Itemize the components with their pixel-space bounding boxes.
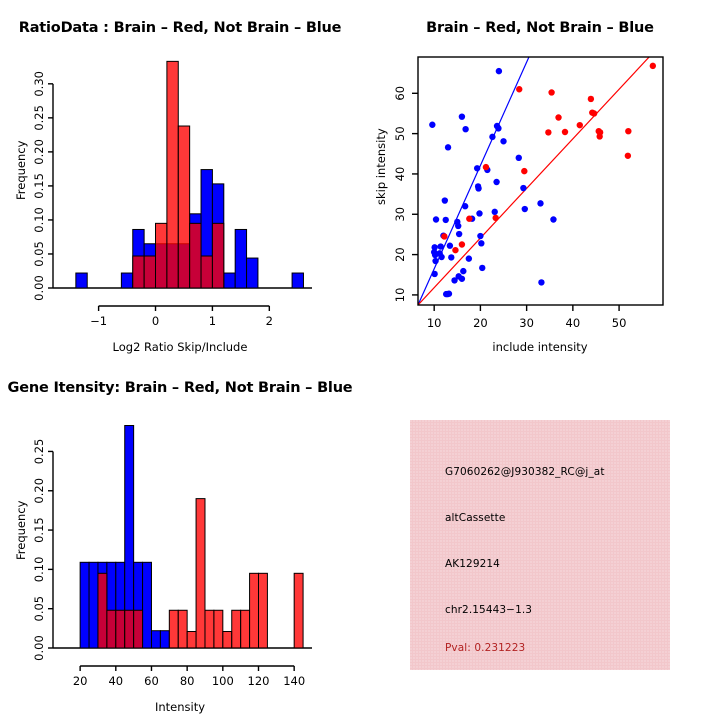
ratio-hist-bar-red	[190, 223, 201, 288]
gene-hist-bar-red	[258, 573, 267, 648]
ratio-hist-bar-blue	[121, 273, 132, 288]
scatter-point-brain	[650, 63, 656, 69]
scatter-point-not-brain	[492, 209, 498, 215]
gene-hist-x-ticklabel: 140	[283, 674, 305, 688]
scatter-point-not-brain	[431, 271, 437, 277]
ratio-hist-y-ticklabel: 0.05	[32, 241, 46, 267]
scatter-point-not-brain	[442, 197, 448, 203]
scatter-point-not-brain	[520, 185, 526, 191]
accession-text: AK129214	[445, 558, 500, 570]
scatter-point-brain	[577, 122, 583, 128]
gene-hist-bar-blue	[160, 631, 169, 648]
scatter-plot: 1020304050102030405060	[360, 0, 720, 360]
scatter-frame-box	[418, 57, 663, 305]
gene-hist-x-ticklabel: 20	[73, 674, 88, 688]
scatter-fit-line-not-brain-fit	[418, 57, 529, 305]
gene-hist-bar-red	[232, 610, 241, 648]
scatter-y-ticklabel: 60	[393, 86, 407, 101]
gene-hist-x-ticklabel: 80	[180, 674, 195, 688]
figure-canvas: RatioData : Brain – Red, Not Brain – Blu…	[0, 0, 720, 720]
ratio-hist-y-ticklabel: 0.20	[32, 139, 46, 165]
scatter-point-not-brain	[478, 240, 484, 246]
scatter-point-not-brain	[445, 144, 451, 150]
gene-hist-bar-red	[205, 610, 214, 648]
scatter-point-not-brain	[479, 265, 485, 271]
ratio-hist-bar-red	[167, 61, 178, 288]
ratio-hist-x-ticklabel: 2	[266, 314, 273, 328]
gene-hist-bar-red	[294, 573, 303, 648]
scatter-point-not-brain	[522, 206, 528, 212]
scatter-point-not-brain	[475, 185, 481, 191]
scatter-point-brain	[625, 153, 631, 159]
scatter-point-brain	[625, 128, 631, 134]
panel-gene-histogram: Gene Itensity: Brain – Red, Not Brain – …	[0, 360, 360, 720]
panel-scatter: Brain – Red, Not Brain – Blue include in…	[360, 0, 720, 360]
gene-hist-bar-red	[241, 610, 250, 648]
ratio-hist-x-ticklabel: −1	[90, 314, 107, 328]
scatter-y-ticklabel: 50	[393, 126, 407, 141]
gene-hist-bar-red	[116, 610, 125, 648]
gene-hist-y-ticklabel: 0.15	[32, 517, 46, 543]
scatter-point-not-brain	[437, 243, 443, 249]
gene-hist-bar-red	[223, 631, 232, 648]
locus-text: chr2.15443−1.3	[445, 604, 532, 616]
scatter-point-brain	[521, 168, 527, 174]
scatter-point-brain	[492, 215, 498, 221]
scatter-point-not-brain	[462, 126, 468, 132]
ratio-hist-bar-red	[133, 256, 144, 288]
gene-hist-bar-red	[187, 631, 196, 648]
ratio-hist-x-ticklabel: 1	[209, 314, 216, 328]
scatter-x-ticklabel: 10	[427, 316, 442, 330]
ratio-hist-y-ticklabel: 0.30	[32, 71, 46, 97]
scatter-point-brain	[597, 129, 603, 135]
ratio-hist-bar-red	[144, 256, 155, 288]
scatter-point-not-brain	[443, 217, 449, 223]
scatter-point-not-brain	[429, 122, 435, 128]
gene-hist-x-ticklabel: 120	[248, 674, 270, 688]
ratio-hist-y-ticklabel: 0.00	[32, 275, 46, 301]
gene-hist-plot: 0.000.050.100.150.200.252040608010012014…	[0, 360, 360, 720]
ratio-hist-bar-red	[156, 223, 167, 288]
ratio-hist-bar-blue	[76, 273, 87, 288]
scatter-point-brain	[545, 129, 551, 135]
scatter-fit-line-brain-fit	[418, 57, 649, 305]
gene-hist-bar-red	[107, 610, 116, 648]
scatter-point-not-brain	[466, 255, 472, 261]
gene-hist-y-ticklabel: 0.05	[32, 596, 46, 622]
gene-hist-bar-red	[250, 573, 259, 648]
ratio-hist-y-ticklabel: 0.25	[32, 105, 46, 131]
ratio-hist-bar-blue	[247, 258, 258, 288]
ratio-hist-y-ticklabel: 0.15	[32, 173, 46, 199]
ratio-hist-bar-red	[201, 256, 212, 288]
probe-id-text: G7060262@J930382_RC@j_at	[445, 466, 605, 478]
scatter-point-brain	[588, 96, 594, 102]
scatter-point-brain	[452, 247, 458, 253]
scatter-point-not-brain	[446, 291, 452, 297]
ratio-hist-bar-blue	[292, 273, 303, 288]
scatter-point-brain	[483, 164, 489, 170]
gene-hist-bar-red	[125, 610, 134, 648]
scatter-point-not-brain	[495, 125, 501, 131]
gene-hist-x-ticklabel: 100	[212, 674, 234, 688]
scatter-x-ticklabel: 50	[612, 316, 627, 330]
scatter-point-not-brain	[448, 254, 454, 260]
scatter-point-not-brain	[456, 231, 462, 237]
scatter-point-not-brain	[476, 210, 482, 216]
gene-hist-bar-blue	[151, 631, 160, 648]
scatter-y-ticklabel: 40	[393, 167, 407, 182]
scatter-point-not-brain	[460, 268, 466, 274]
scatter-point-not-brain	[459, 113, 465, 119]
gene-hist-bar-blue	[143, 562, 152, 648]
gene-hist-bar-red	[169, 610, 178, 648]
gene-hist-y-ticklabel: 0.20	[32, 478, 46, 504]
scatter-point-not-brain	[500, 138, 506, 144]
scatter-y-ticklabel: 20	[393, 247, 407, 262]
gene-hist-bar-red	[98, 573, 107, 648]
gene-hist-x-ticklabel: 60	[144, 674, 159, 688]
gene-hist-bar-red	[214, 610, 223, 648]
scatter-point-brain	[548, 89, 554, 95]
gene-hist-bar-red	[178, 610, 187, 648]
gene-hist-bar-blue	[80, 562, 89, 648]
scatter-point-not-brain	[455, 223, 461, 229]
scatter-point-not-brain	[538, 279, 544, 285]
ratio-hist-x-ticklabel: 0	[152, 314, 159, 328]
ratio-hist-bar-blue	[224, 273, 235, 288]
scatter-point-not-brain	[462, 203, 468, 209]
scatter-point-brain	[459, 241, 465, 247]
ratio-hist-bar-blue	[235, 229, 246, 288]
gene-hist-bar-blue	[89, 562, 98, 648]
ratio-hist-bar-red	[178, 126, 189, 288]
pval-text: Pval: 0.231223	[445, 642, 525, 654]
gene-hist-x-ticklabel: 40	[108, 674, 123, 688]
scatter-x-ticklabel: 20	[473, 316, 488, 330]
event-type-text: altCassette	[445, 512, 505, 524]
scatter-point-not-brain	[537, 200, 543, 206]
gene-hist-y-ticklabel: 0.25	[32, 439, 46, 465]
scatter-point-brain	[441, 233, 447, 239]
scatter-point-not-brain	[459, 276, 465, 282]
scatter-point-not-brain	[432, 258, 438, 264]
gene-hist-bar-red	[134, 610, 143, 648]
panel-gene-info: G7060262@J930382_RC@j_at altCassette AK1…	[360, 360, 720, 720]
gene-hist-y-ticklabel: 0.10	[32, 557, 46, 583]
scatter-point-brain	[516, 86, 522, 92]
scatter-data-group	[418, 57, 656, 305]
scatter-point-not-brain	[496, 68, 502, 74]
ratio-hist-y-ticklabel: 0.10	[32, 207, 46, 233]
scatter-point-brain	[562, 129, 568, 135]
scatter-point-not-brain	[438, 254, 444, 260]
scatter-y-ticklabel: 30	[393, 207, 407, 222]
scatter-point-not-brain	[489, 134, 495, 140]
scatter-point-not-brain	[447, 243, 453, 249]
gene-hist-bar-red	[196, 499, 205, 648]
scatter-point-brain	[555, 114, 561, 120]
panel-ratio-histogram: RatioData : Brain – Red, Not Brain – Blu…	[0, 0, 360, 360]
ratio-hist-bar-red	[212, 223, 223, 288]
scatter-point-not-brain	[477, 233, 483, 239]
gene-info-box: G7060262@J930382_RC@j_at altCassette AK1…	[410, 420, 670, 670]
scatter-point-not-brain	[493, 179, 499, 185]
scatter-point-not-brain	[516, 155, 522, 161]
scatter-point-not-brain	[550, 216, 556, 222]
scatter-point-brain	[466, 216, 472, 222]
gene-hist-y-ticklabel: 0.00	[32, 635, 46, 661]
scatter-y-ticklabel: 10	[393, 288, 407, 303]
scatter-x-ticklabel: 40	[566, 316, 581, 330]
scatter-point-not-brain	[474, 165, 480, 171]
scatter-x-ticklabel: 30	[519, 316, 534, 330]
scatter-point-not-brain	[433, 216, 439, 222]
ratio-hist-plot: 0.000.050.100.150.200.250.30−1012	[0, 0, 360, 360]
scatter-point-brain	[591, 110, 597, 116]
